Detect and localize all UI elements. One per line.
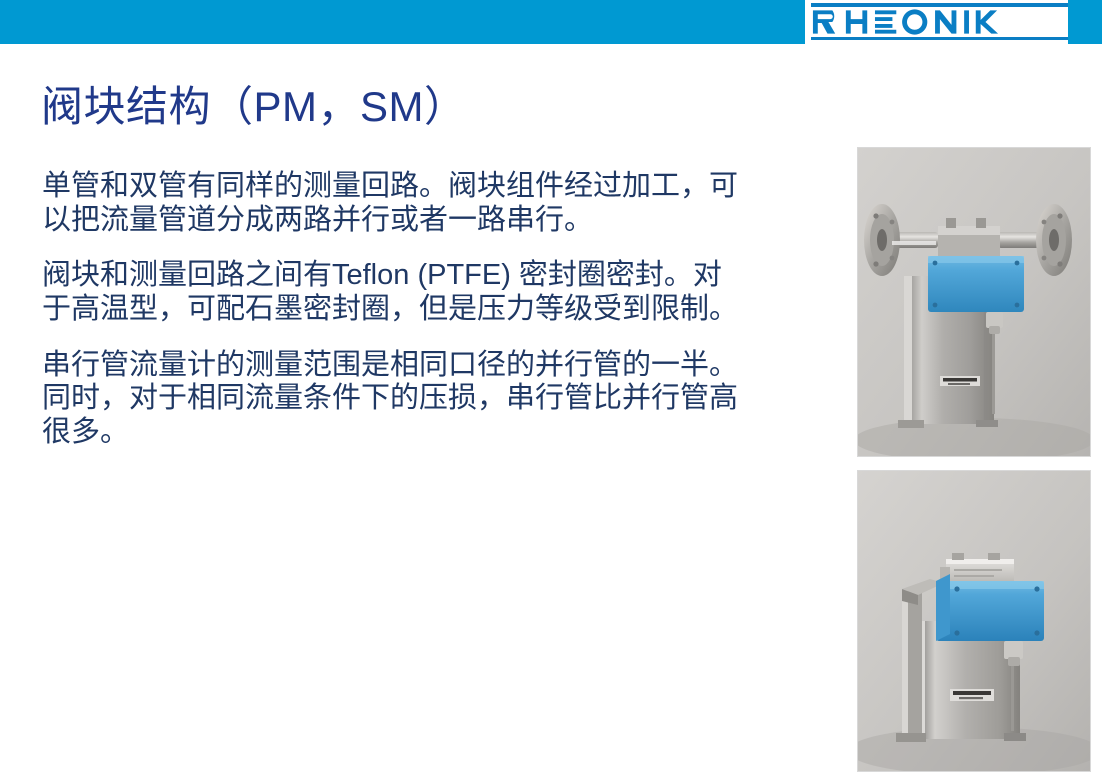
body-text-column: 单管和双管有同样的测量回路。阀块组件经过加工，可以把流量管道分成两路并行或者一路… xyxy=(42,170,742,449)
logo-wordmark xyxy=(811,8,1096,36)
logo-top-rule xyxy=(811,3,1096,7)
product-photo-flow-meter-angled xyxy=(857,470,1091,772)
paragraph-1: 单管和双管有同样的测量回路。阀块组件经过加工，可以把流量管道分成两路并行或者一路… xyxy=(42,170,742,237)
logo-accent-square xyxy=(1068,0,1102,44)
paragraph-2: 阀块和测量回路之间有Teflon (PTFE) 密封圈密封。对于高温型，可配石墨… xyxy=(42,259,742,326)
product-photo-flow-meter-front xyxy=(857,147,1091,457)
header-bar xyxy=(0,0,1102,44)
rheonik-logo xyxy=(805,0,1102,44)
logo-bottom-rule xyxy=(811,37,1096,41)
page-title: 阀块结构（PM，SM） xyxy=(41,83,467,131)
paragraph-3: 串行管流量计的测量范围是相同口径的并行管的一半。同时，对于相同流量条件下的压损，… xyxy=(42,349,742,450)
